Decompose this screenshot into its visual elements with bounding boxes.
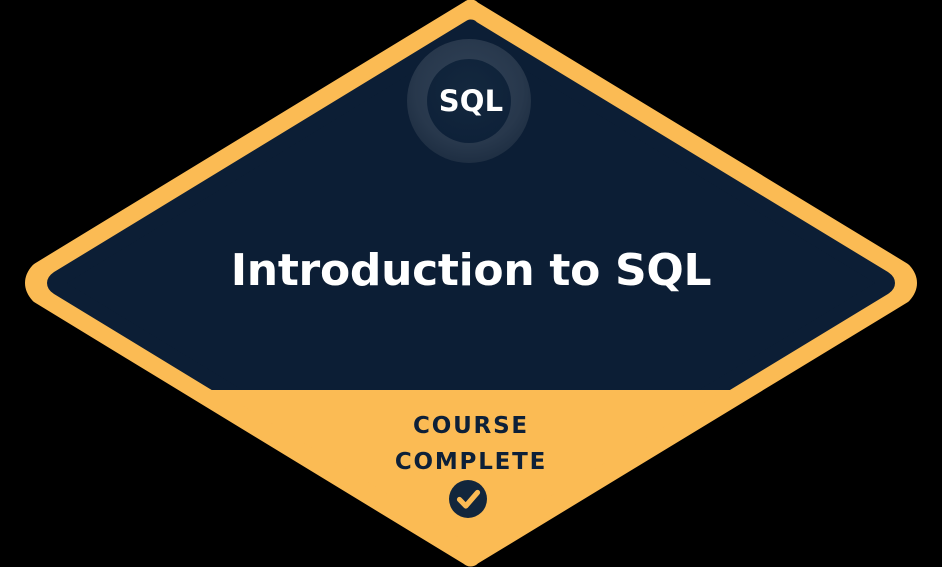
badge-abbr-ring [407,39,531,163]
course-completion-badge: SQL Introduction to SQL COURSE COMPLETE [0,0,942,567]
check-circle-icon [449,480,487,518]
badge-shape-graphic [0,0,942,567]
